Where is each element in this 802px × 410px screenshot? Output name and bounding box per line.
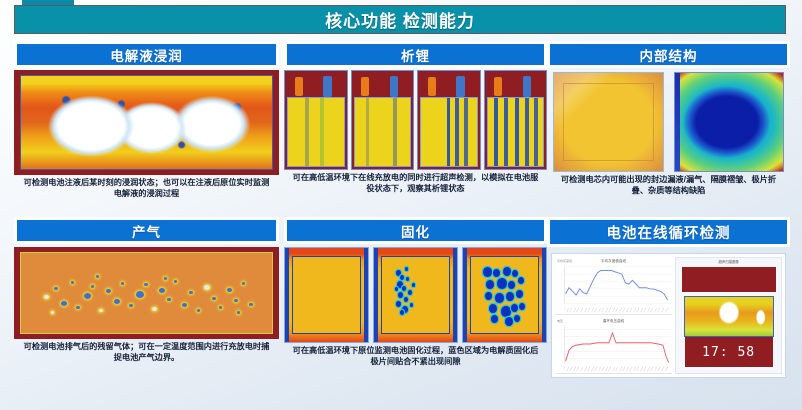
gas-bubble bbox=[106, 289, 111, 293]
card-header-lithium-plating: 析锂 bbox=[284, 41, 547, 68]
curing-gap-blob bbox=[495, 293, 504, 303]
image-online-cycling: 平均灰度值 平均灰度值曲线 ————————————————————————— bbox=[547, 253, 790, 378]
chart-average-grayscale: 平均灰度值 平均灰度值曲线 ————————————————————————— bbox=[555, 257, 672, 315]
gas-bubble bbox=[121, 282, 124, 285]
gas-bubble bbox=[197, 309, 200, 312]
curing-gap-blob bbox=[508, 281, 515, 289]
gas-bubble bbox=[144, 283, 148, 286]
gas-bubble bbox=[204, 285, 210, 290]
curing-gap-blob bbox=[404, 297, 408, 302]
card-electrolyte-wetting[interactable]: 电解液浸润 可检测电池注液后某时刻的浸润状态；也可以在注液后原位实时监测电解液的… bbox=[14, 41, 279, 216]
curing-gap-blob bbox=[491, 315, 498, 323]
curing-gap-blob bbox=[485, 292, 492, 300]
gas-bubble bbox=[212, 297, 216, 300]
image-electrolyte-wetting bbox=[14, 70, 279, 175]
gas-bubble bbox=[84, 293, 91, 299]
curing-gap-blob bbox=[505, 317, 513, 326]
chart-xticks-bottom: ————————————————————————————————————————… bbox=[564, 364, 671, 373]
curing-gap-blob bbox=[516, 290, 523, 298]
gas-bubble bbox=[189, 291, 193, 294]
curing-gap-blob bbox=[506, 292, 514, 301]
curing-gap-blob bbox=[489, 304, 497, 313]
curing-gap-blob bbox=[412, 283, 415, 287]
card-curing[interactable]: 固化 可在高低温环境下原位监测电池固化过程，蓝色区域为电解质固化后极片间贴合不紧… bbox=[284, 217, 547, 397]
curing-gap-blob bbox=[483, 267, 492, 277]
gas-bubble bbox=[182, 303, 187, 307]
curing-gap-blob bbox=[396, 301, 401, 307]
slide-root: 核心功能 检测能力 电解液浸润 可检测电池注液后某时刻的浸润状态；也可以在注液后… bbox=[0, 0, 802, 410]
curing-gap-blob bbox=[410, 303, 413, 307]
curing-gap-blob bbox=[493, 269, 500, 277]
gas-bubble bbox=[71, 281, 74, 284]
image-curing bbox=[284, 247, 547, 343]
curing-gap-blob bbox=[405, 267, 408, 271]
gas-bubble bbox=[44, 295, 49, 299]
cycling-timer: 17: 58 bbox=[685, 337, 773, 367]
curing-gap-blob bbox=[501, 306, 511, 317]
image-lithium-plating bbox=[284, 70, 547, 170]
gas-bubble bbox=[234, 299, 238, 302]
gas-bubble bbox=[51, 311, 54, 314]
curing-gap-blob bbox=[519, 303, 525, 310]
gas-bubble bbox=[61, 301, 67, 306]
curing-gap-blob bbox=[395, 287, 398, 291]
gas-bubble bbox=[129, 304, 133, 307]
cycling-ultrasound-image: 超声扫描图像 17: 58 bbox=[675, 257, 782, 374]
card-header-curing: 固化 bbox=[284, 217, 547, 244]
card-header-electrolyte-wetting: 电解液浸润 bbox=[14, 41, 279, 68]
curing-gap-blob bbox=[518, 277, 524, 284]
cycling-timer-value: 17: 58 bbox=[702, 345, 755, 360]
card-online-cycling[interactable]: 电池在线循环检测 平均灰度值 平均灰度值曲线 bbox=[547, 217, 790, 397]
gas-bubble bbox=[227, 288, 232, 292]
curing-gap-blob bbox=[408, 290, 412, 295]
curing-gap-blob bbox=[497, 278, 507, 289]
gas-bubble bbox=[54, 287, 58, 290]
image-gas-generation bbox=[14, 247, 279, 339]
curing-gap-blob bbox=[406, 277, 409, 281]
image-internal-structure bbox=[547, 72, 790, 172]
card-caption-electrolyte-wetting: 可检测电池注液后某时刻的浸润状态；也可以在注液后原位实时监测电解液的浸润过程 bbox=[14, 175, 279, 199]
gas-bubble bbox=[114, 299, 120, 304]
card-caption-lithium-plating: 可在高低温环境下在线充放电的同时进行超声检测，以模拟在电池服役状态下，观察其析锂… bbox=[284, 170, 547, 194]
slide-title-band: 核心功能 检测能力 bbox=[14, 5, 786, 34]
gas-bubble bbox=[167, 298, 171, 301]
card-header-online-cycling: 电池在线循环检测 bbox=[547, 217, 790, 247]
gas-bubble bbox=[219, 306, 222, 309]
curing-gap-blob bbox=[402, 286, 406, 291]
card-caption-gas-generation: 可检测电池排气后的残留气体；可在一定温度范围内进行充放电时捕捉电池产气边界。 bbox=[14, 339, 279, 363]
card-header-internal-structure: 内部结构 bbox=[547, 41, 790, 68]
gas-bubble bbox=[76, 306, 80, 309]
card-internal-structure[interactable]: 内部结构 可检测电芯内可能出现的封边漏液/漏气、隔膜褶皱、极片折叠、杂质等结构缺… bbox=[547, 41, 790, 216]
gas-bubble bbox=[164, 277, 167, 280]
curing-gap-blob bbox=[511, 304, 518, 312]
chart-cycle-voltage: 电压 循环电压曲线 ————————————————————————————— bbox=[555, 317, 672, 375]
curing-gap-blob bbox=[514, 315, 520, 322]
chart-xticks-top: ————————————————————————————————————————… bbox=[564, 305, 671, 314]
curing-gap-blob bbox=[398, 292, 403, 298]
card-caption-curing: 可在高低温环境下原位监测电池固化过程，蓝色区域为电解质固化后极片间贴合不紧出现间… bbox=[284, 343, 547, 367]
gas-bubble bbox=[174, 280, 177, 283]
card-lithium-plating[interactable]: 析锂 可在高低温环境下在线充放电的同时进行超声检测，以模拟在电池服役状态下，观察… bbox=[284, 41, 547, 216]
gas-bubble bbox=[152, 307, 157, 311]
page-title: 核心功能 检测能力 bbox=[325, 7, 475, 32]
gas-bubble bbox=[242, 282, 245, 285]
curing-gap-blob bbox=[503, 267, 511, 276]
gas-bubble bbox=[136, 291, 144, 298]
curing-gap-blob bbox=[400, 310, 404, 315]
cycling-image-title: 超声扫描图像 bbox=[676, 259, 781, 264]
gas-bubble bbox=[249, 303, 253, 306]
card-caption-internal-structure: 可检测电芯内可能出现的封边漏液/漏气、隔膜褶皱、极片折叠、杂质等结构缺陷 bbox=[547, 172, 790, 196]
curing-gap-blob bbox=[400, 275, 404, 280]
cycling-charts: 平均灰度值 平均灰度值曲线 ————————————————————————— bbox=[555, 257, 672, 374]
curing-gap-blob bbox=[512, 270, 518, 277]
gas-bubble bbox=[99, 309, 103, 312]
card-header-gas-generation: 产气 bbox=[14, 217, 279, 244]
curing-gap-blob bbox=[486, 280, 494, 289]
card-gas-generation[interactable]: 产气 可检测电池排气后的残留气体；可在一定温度范围内进行充放电时捕捉电池产气边界… bbox=[14, 217, 279, 397]
gas-bubble bbox=[96, 275, 99, 278]
gas-bubble bbox=[91, 285, 94, 288]
gas-bubble bbox=[237, 311, 240, 314]
gas-bubble bbox=[159, 288, 165, 293]
